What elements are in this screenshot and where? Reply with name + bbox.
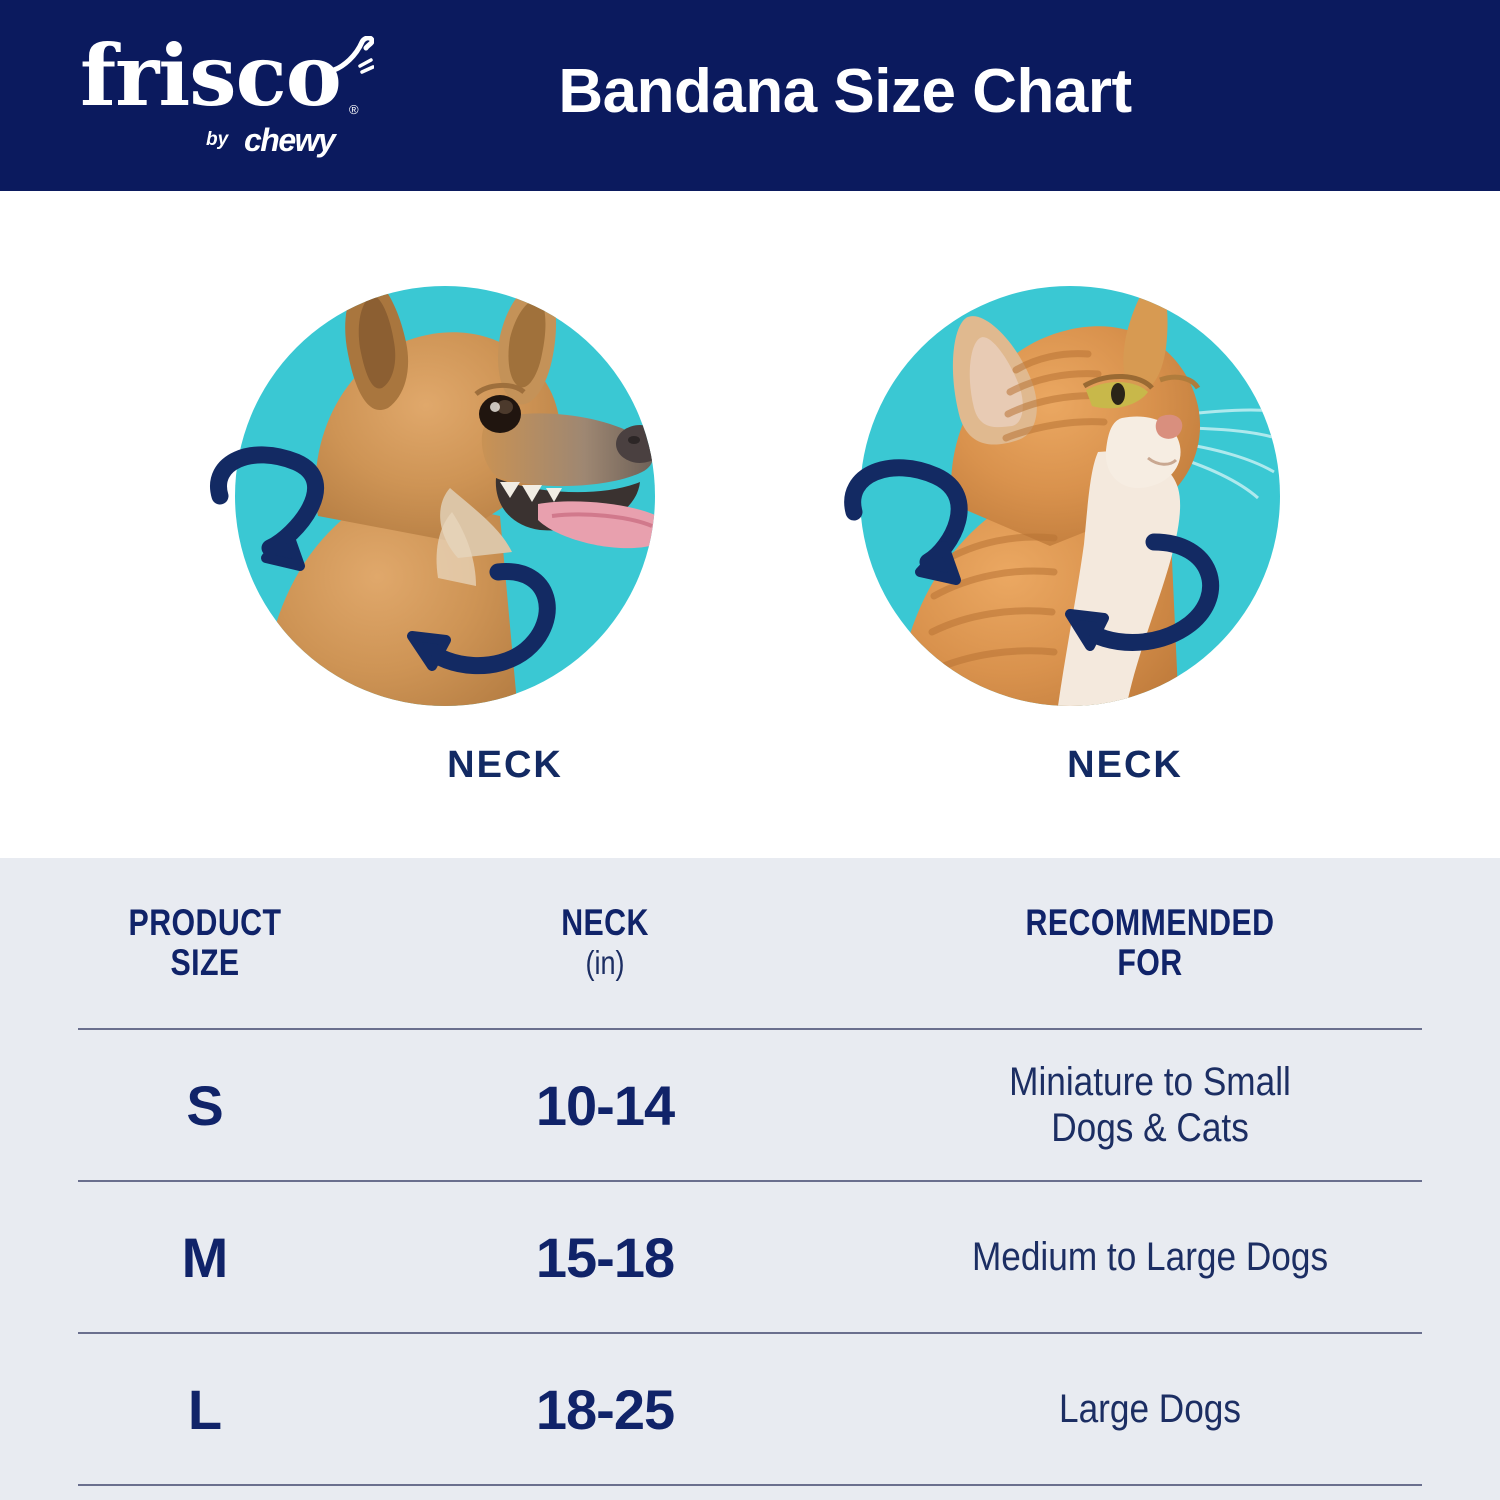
page-title: Bandana Size Chart	[0, 56, 1500, 127]
cell-recommended-line1: Miniature to Small	[1009, 1060, 1291, 1104]
cell-neck: 15-18	[536, 1226, 674, 1289]
column-header-recommended-line2: FOR	[1117, 942, 1182, 983]
table-bottom-divider	[78, 1484, 1422, 1486]
cat-illustration: NECK	[840, 266, 1310, 826]
table-row: S 10-14 Miniature to Small Dogs & Cats	[0, 1030, 1500, 1180]
size-chart-page: frisco ® by chewy Bandana Size Chart	[0, 0, 1500, 1500]
cell-recommended-line1: Medium to Large Dogs	[972, 1235, 1328, 1279]
dog-illustration: NECK	[200, 266, 670, 826]
cell-recommended-line2: Dogs & Cats	[1051, 1106, 1249, 1150]
cell-neck: 10-14	[536, 1074, 674, 1137]
cell-size: L	[188, 1378, 222, 1441]
table-row: L 18-25 Large Dogs	[0, 1334, 1500, 1484]
header-bar: frisco ® by chewy Bandana Size Chart	[0, 0, 1500, 191]
column-header-neck-unit: (in)	[445, 943, 765, 983]
dog-neck-arrow-left	[219, 455, 316, 548]
brand-byline-prefix: by	[206, 129, 228, 151]
cell-neck: 18-25	[536, 1378, 674, 1441]
column-header-neck-line1: NECK	[561, 902, 649, 943]
table-header-row: PRODUCT SIZE NECK (in) RECOMMENDED FOR	[0, 858, 1500, 1028]
column-header-product-size-line1: PRODUCT	[129, 902, 282, 943]
dog-photo-graphic	[200, 266, 670, 736]
brand-byline-chewy: chewy	[244, 122, 334, 159]
cell-size: M	[182, 1226, 229, 1289]
cat-photo-graphic	[840, 266, 1310, 736]
cell-size: S	[186, 1074, 223, 1137]
table-row: M 15-18 Medium to Large Dogs	[0, 1182, 1500, 1332]
cell-recommended-line1: Large Dogs	[1059, 1387, 1241, 1431]
column-header-recommended-line1: RECOMMENDED	[1026, 902, 1275, 943]
column-header-neck: NECK (in)	[410, 903, 800, 983]
cat-neck-label: NECK	[890, 744, 1360, 787]
illustration-section: NECK	[0, 191, 1500, 858]
column-header-product-size: PRODUCT SIZE	[0, 903, 410, 983]
column-header-recommended-for: RECOMMENDED FOR	[800, 903, 1500, 983]
cat-arrowhead-left	[920, 546, 956, 580]
dog-neck-label: NECK	[270, 744, 740, 787]
size-table: PRODUCT SIZE NECK (in) RECOMMENDED FOR	[0, 858, 1500, 1500]
column-header-product-size-line2: SIZE	[170, 942, 239, 983]
dog-arrowhead-left	[266, 532, 300, 566]
